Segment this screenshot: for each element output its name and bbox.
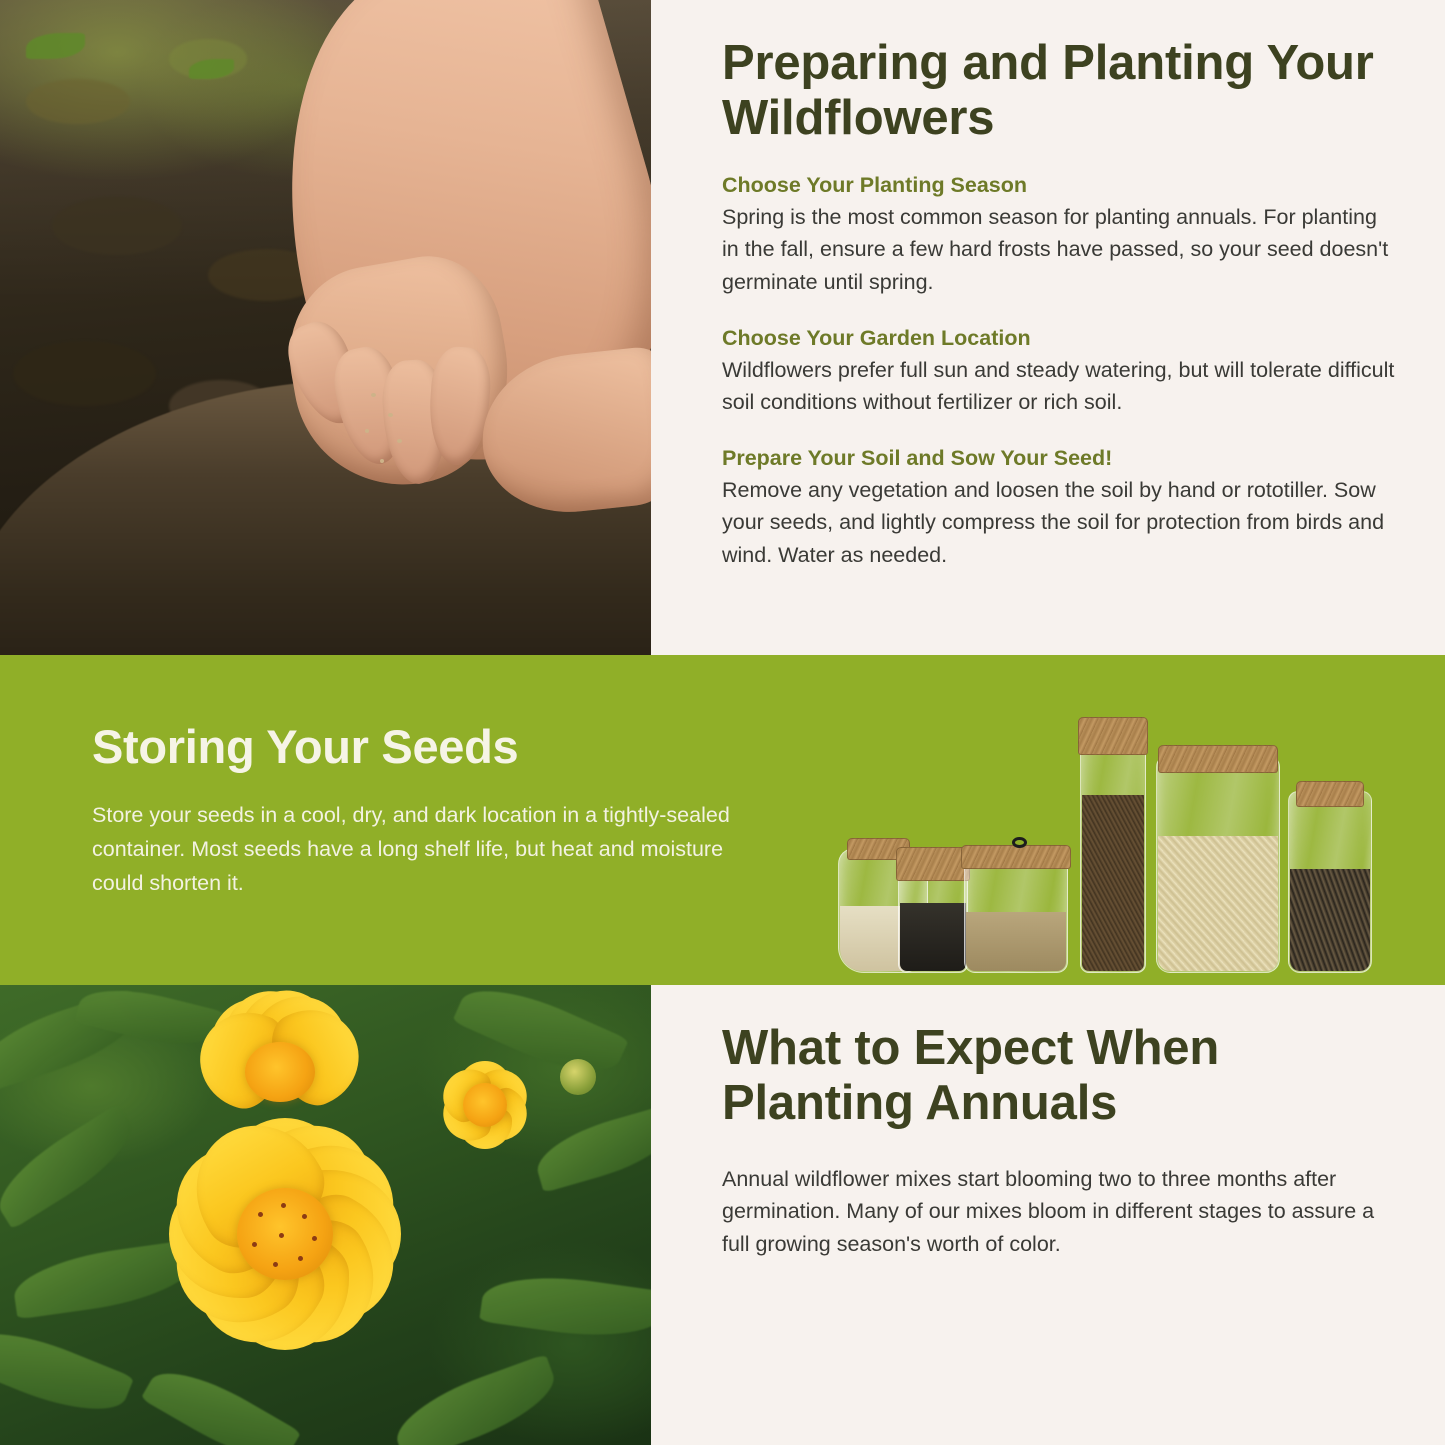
seed-jars-photo — [836, 655, 1376, 985]
storing-body: Store your seeds in a cool, dry, and dar… — [92, 799, 732, 901]
planting-instructions: Preparing and Planting Your Wildflowers … — [651, 0, 1445, 655]
storing-section: Storing Your Seeds Store your seeds in a… — [0, 655, 1445, 985]
block-planting-season: Choose Your Planting Season Spring is th… — [722, 172, 1397, 299]
block-heading: Choose Your Planting Season — [722, 172, 1397, 199]
block-prepare-soil: Prepare Your Soil and Sow Your Seed! Rem… — [722, 445, 1397, 572]
storing-text-group: Storing Your Seeds Store your seeds in a… — [92, 721, 732, 901]
planting-section: Preparing and Planting Your Wildflowers … — [0, 0, 1445, 655]
jar-dark-seed — [898, 855, 968, 973]
block-heading: Choose Your Garden Location — [722, 325, 1397, 352]
planting-title: Preparing and Planting Your Wildflowers — [722, 36, 1397, 146]
storing-title: Storing Your Seeds — [92, 721, 732, 773]
expectations-text: What to Expect When Planting Annuals Ann… — [651, 985, 1445, 1445]
flower-bud — [560, 1059, 596, 1095]
infographic-page: Preparing and Planting Your Wildflowers … — [0, 0, 1445, 1445]
soil-sowing-photo — [0, 0, 651, 655]
block-body: Remove any vegetation and loosen the soi… — [722, 474, 1397, 572]
main-bloom — [85, 1049, 485, 1419]
block-body: Wildflowers prefer full sun and steady w… — [722, 354, 1397, 419]
jar-pumpkin-seeds — [1156, 755, 1280, 973]
flower-center — [237, 1188, 333, 1280]
yellow-flower-photo — [0, 985, 651, 1445]
jar-fine-brown-seed — [964, 855, 1068, 973]
expect-title: What to Expect When Planting Annuals — [722, 1021, 1397, 1131]
block-garden-location: Choose Your Garden Location Wildflowers … — [722, 325, 1397, 419]
expectations-section: What to Expect When Planting Annuals Ann… — [0, 985, 1445, 1445]
expect-body: Annual wildflower mixes start blooming t… — [722, 1163, 1397, 1261]
block-heading: Prepare Your Soil and Sow Your Seed! — [722, 445, 1397, 472]
jar-tall-cylinder — [1080, 721, 1146, 973]
jar-sunflower-seeds — [1288, 791, 1372, 973]
block-body: Spring is the most common season for pla… — [722, 201, 1397, 299]
